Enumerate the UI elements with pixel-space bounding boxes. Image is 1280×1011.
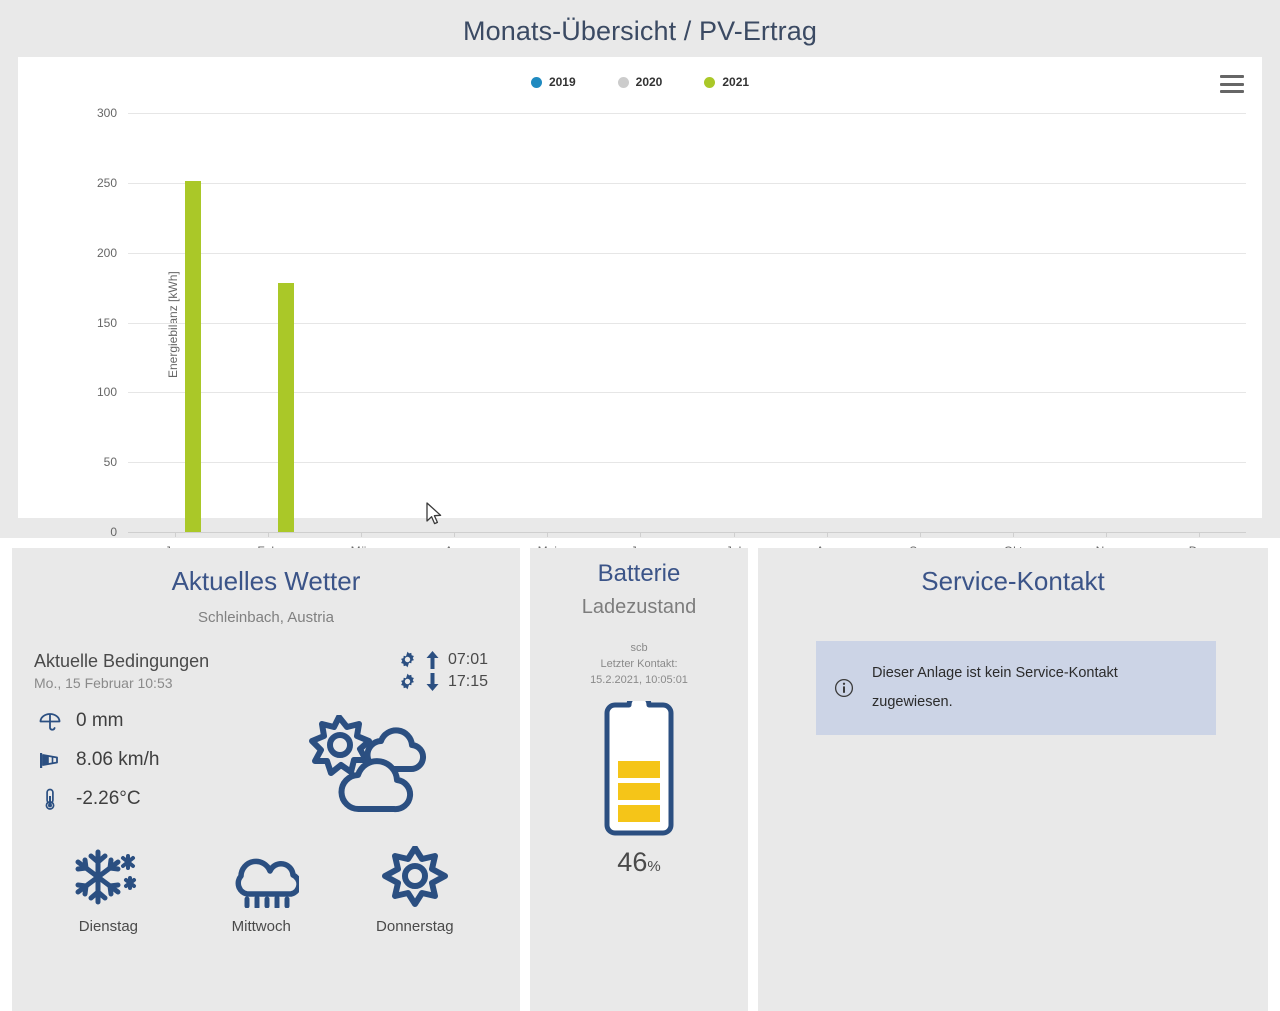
precipitation-value: 0 mm bbox=[76, 710, 124, 732]
battery-title: Batterie bbox=[530, 548, 748, 588]
forecast-row: Dienstag Mittwoch bbox=[12, 820, 520, 935]
x-axis-tick-mark bbox=[1106, 532, 1107, 537]
chart-plot-area: Energiebilanz [kWh] 050100150200250300Ja… bbox=[128, 113, 1246, 532]
y-axis-tick-label: 0 bbox=[110, 525, 117, 539]
legend-label: 2021 bbox=[722, 75, 749, 89]
x-axis-line bbox=[128, 532, 1246, 533]
x-axis-tick-mark bbox=[547, 532, 548, 537]
thermometer-icon bbox=[38, 787, 62, 811]
y-axis-tick-label: 150 bbox=[97, 316, 117, 330]
sun-icon bbox=[398, 672, 417, 691]
current-conditions-row: Aktuelle Bedingungen Mo., 15 Februar 10:… bbox=[12, 626, 520, 691]
forecast-day: Donnerstag bbox=[376, 918, 454, 935]
dashboard-page: Monats-Übersicht / PV-Ertrag 20192020202… bbox=[0, 0, 1280, 1011]
gridline bbox=[128, 323, 1246, 324]
wind-metric: 8.06 km/h bbox=[38, 748, 306, 772]
hamburger-menu-icon[interactable] bbox=[1220, 75, 1244, 93]
y-axis-tick-label: 200 bbox=[97, 246, 117, 260]
x-axis-tick-mark bbox=[640, 532, 641, 537]
x-axis-tick-mark bbox=[1013, 532, 1014, 537]
battery-subtitle: Ladezustand bbox=[530, 588, 748, 619]
mouse-cursor-icon bbox=[426, 502, 444, 528]
forecast-day: Dienstag bbox=[79, 918, 138, 935]
y-axis-label: Energiebilanz [kWh] bbox=[166, 271, 180, 378]
battery-percent-unit: % bbox=[647, 858, 660, 875]
y-axis-tick-label: 100 bbox=[97, 385, 117, 399]
gridline bbox=[128, 392, 1246, 393]
arrow-up-icon bbox=[425, 651, 440, 669]
battery-icon-wrap bbox=[530, 689, 748, 837]
forecast-item: Mittwoch bbox=[223, 846, 299, 935]
gridline bbox=[128, 253, 1246, 254]
legend-item[interactable]: 2019 bbox=[531, 75, 576, 89]
weather-title: Aktuelles Wetter bbox=[12, 548, 520, 597]
service-alert-box: Dieser Anlage ist kein Service-Kontakt z… bbox=[816, 641, 1216, 735]
page-title: Monats-Übersicht / PV-Ertrag bbox=[0, 0, 1280, 47]
conditions-title: Aktuelle Bedingungen bbox=[34, 650, 209, 673]
service-alert-text: Dieser Anlage ist kein Service-Kontakt z… bbox=[872, 659, 1118, 717]
battery-percent-value: 46 bbox=[617, 847, 647, 877]
weather-metrics-wrap: 0 mm 8.06 km/h bbox=[12, 691, 520, 820]
x-axis-tick-mark bbox=[454, 532, 455, 537]
snowflake-icon bbox=[70, 846, 146, 908]
service-title: Service-Kontakt bbox=[758, 548, 1268, 597]
x-axis-tick-mark bbox=[268, 532, 269, 537]
bottom-panels-row: Aktuelles Wetter Schleinbach, Austria Ak… bbox=[0, 548, 1280, 1011]
arrow-down-icon bbox=[425, 673, 440, 691]
legend-color-dot bbox=[531, 77, 542, 88]
x-axis-tick-mark bbox=[920, 532, 921, 537]
legend-color-dot bbox=[704, 77, 715, 88]
weather-metrics: 0 mm 8.06 km/h bbox=[38, 709, 306, 811]
windsock-icon bbox=[38, 748, 62, 772]
chart-card: 201920202021 Energiebilanz [kWh] 0501001… bbox=[18, 57, 1262, 518]
wind-value: 8.06 km/h bbox=[76, 749, 159, 771]
gridline bbox=[128, 462, 1246, 463]
service-alert-line2: zugewiesen. bbox=[872, 688, 1118, 717]
x-axis-tick-mark bbox=[827, 532, 828, 537]
sunset-time: 17:15 bbox=[448, 673, 498, 691]
battery-meta: scb Letzter Kontakt: 15.2.2021, 10:05:01 bbox=[530, 619, 748, 689]
x-axis-tick-mark bbox=[361, 532, 362, 537]
current-weather-icon-wrap bbox=[306, 715, 438, 820]
umbrella-icon bbox=[38, 709, 62, 733]
chart-bar[interactable] bbox=[185, 181, 201, 532]
sun-icon bbox=[377, 846, 453, 908]
sun-times: 07:01 17:15 bbox=[398, 650, 498, 691]
battery-panel: Batterie Ladezustand scb Letzter Kontakt… bbox=[530, 548, 748, 1011]
legend-item[interactable]: 2021 bbox=[704, 75, 749, 89]
partly-cloudy-icon bbox=[306, 715, 438, 815]
chart-legend: 201920202021 bbox=[18, 75, 1262, 89]
forecast-item: Dienstag bbox=[70, 846, 146, 935]
current-conditions-text: Aktuelle Bedingungen Mo., 15 Februar 10:… bbox=[34, 650, 209, 691]
legend-label: 2020 bbox=[636, 75, 663, 89]
y-axis-tick-label: 250 bbox=[97, 176, 117, 190]
service-contact-panel: Service-Kontakt Dieser Anlage ist kein S… bbox=[758, 548, 1268, 1011]
forecast-item: Donnerstag bbox=[376, 846, 454, 935]
sun-icon bbox=[398, 650, 417, 669]
temperature-value: -2.26°C bbox=[76, 788, 141, 810]
sunrise-row: 07:01 bbox=[398, 650, 498, 669]
temperature-metric: -2.26°C bbox=[38, 787, 306, 811]
battery-device-name: scb bbox=[530, 641, 748, 657]
y-axis-tick-label: 300 bbox=[97, 106, 117, 120]
gridline bbox=[128, 183, 1246, 184]
info-icon bbox=[834, 678, 854, 698]
legend-color-dot bbox=[618, 77, 629, 88]
chart-bar[interactable] bbox=[278, 283, 294, 532]
y-axis-tick-label: 50 bbox=[104, 455, 117, 469]
weather-panel: Aktuelles Wetter Schleinbach, Austria Ak… bbox=[12, 548, 520, 1011]
forecast-day: Mittwoch bbox=[232, 918, 291, 935]
sunset-row: 17:15 bbox=[398, 672, 498, 691]
battery-last-contact-label: Letzter Kontakt: bbox=[530, 657, 748, 673]
x-axis-tick-mark bbox=[734, 532, 735, 537]
battery-last-contact-value: 15.2.2021, 10:05:01 bbox=[530, 673, 748, 689]
rain-cloud-icon bbox=[223, 846, 299, 908]
battery-icon bbox=[599, 701, 679, 837]
precipitation-metric: 0 mm bbox=[38, 709, 306, 733]
gridline bbox=[128, 113, 1246, 114]
battery-percentage: 46% bbox=[530, 837, 748, 878]
service-alert-line1: Dieser Anlage ist kein Service-Kontakt bbox=[872, 659, 1118, 688]
chart-panel: Monats-Übersicht / PV-Ertrag 20192020202… bbox=[0, 0, 1280, 538]
x-axis-tick-mark bbox=[175, 532, 176, 537]
sunrise-time: 07:01 bbox=[448, 651, 498, 669]
legend-item[interactable]: 2020 bbox=[618, 75, 663, 89]
x-axis-tick-mark bbox=[1199, 532, 1200, 537]
legend-label: 2019 bbox=[549, 75, 576, 89]
weather-location: Schleinbach, Austria bbox=[12, 597, 520, 626]
conditions-date: Mo., 15 Februar 10:53 bbox=[34, 675, 209, 691]
